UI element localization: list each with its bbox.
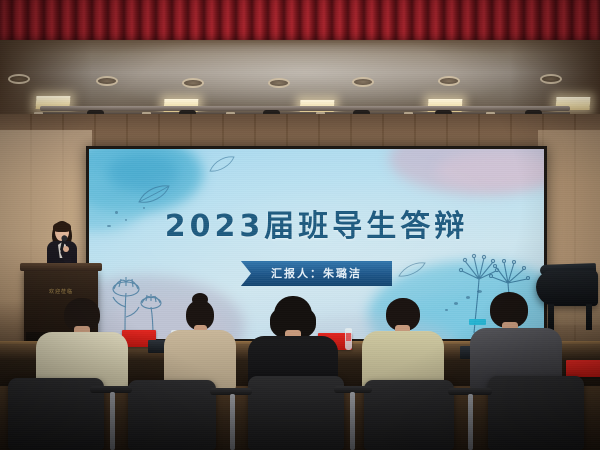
red-folder — [566, 360, 600, 377]
ring-light — [540, 74, 562, 84]
ring-light — [182, 78, 204, 88]
leaf-lineart-icon — [209, 155, 235, 173]
ring-light — [96, 76, 118, 86]
presenter-bangs — [53, 222, 71, 232]
chair-post — [110, 392, 115, 450]
ink-speck — [445, 309, 448, 311]
chair-post — [350, 392, 355, 450]
auditorium-scene: 2023届班导生答辩 汇报人：朱璐洁 欢迎莅临 — [0, 0, 600, 450]
audience-hair-bun — [192, 293, 208, 306]
chair — [248, 376, 344, 450]
audience-member — [164, 300, 236, 390]
watercolor-blob-top-left — [107, 153, 179, 193]
chair — [488, 376, 584, 450]
chair-post — [230, 394, 235, 450]
chair — [128, 380, 216, 450]
ring-light — [8, 74, 30, 84]
podium-top — [20, 263, 102, 271]
piano-leg — [586, 304, 592, 330]
audience-member — [362, 298, 444, 390]
slide-presenter-ribbon: 汇报人：朱璐洁 — [241, 261, 392, 286]
ring-light — [268, 78, 290, 88]
chair — [364, 380, 454, 450]
ring-light — [438, 76, 460, 86]
ring-light — [352, 77, 374, 87]
slide-ribbon-container: 汇报人：朱璐洁 — [89, 261, 544, 286]
ink-speck — [454, 302, 458, 305]
watercolor-blob-top-right — [436, 151, 544, 191]
slide-title: 2023届班导生答辩 — [89, 201, 544, 245]
podium-nameplate: 欢迎莅临 — [36, 288, 86, 297]
chair-post — [468, 394, 473, 450]
water-bottle — [345, 328, 352, 350]
audience-member — [36, 298, 128, 390]
lighting-truss — [40, 106, 570, 111]
presenter-hand — [63, 246, 69, 252]
